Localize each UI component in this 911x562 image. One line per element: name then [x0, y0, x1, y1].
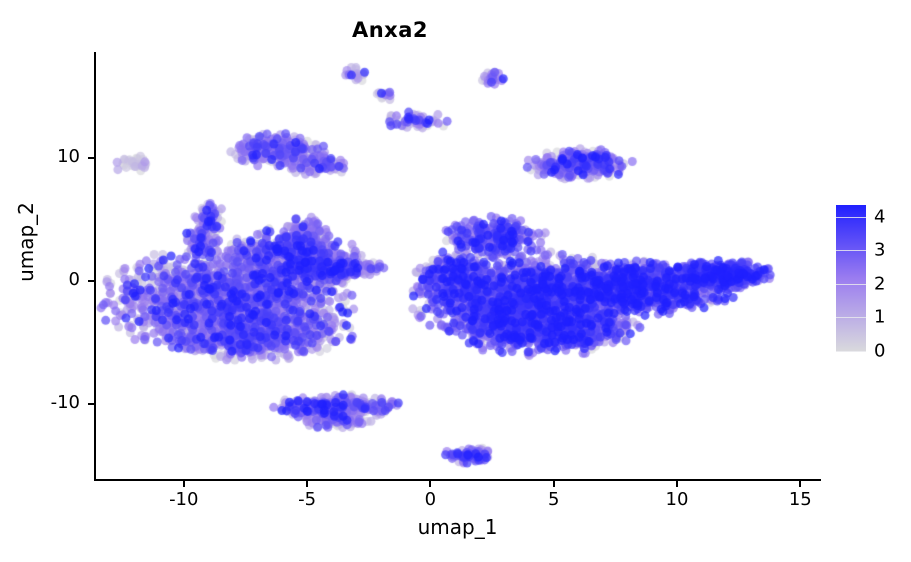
y-tick-mark	[88, 280, 94, 282]
x-tick-label: 5	[519, 489, 589, 510]
x-axis-label: umap_1	[95, 515, 820, 539]
x-tick-label: -10	[149, 489, 219, 510]
colorbar: 01234	[836, 205, 906, 351]
x-axis-spine	[94, 479, 821, 481]
scatter-plot-canvas	[95, 52, 820, 480]
x-tick-mark	[553, 481, 555, 487]
colorbar-tick-label: 1	[874, 307, 885, 328]
colorbar-tick-mark	[836, 351, 866, 352]
colorbar-tick-label: 4	[874, 206, 885, 227]
colorbar-tick-mark	[836, 317, 866, 318]
x-tick-mark	[429, 481, 431, 487]
x-tick-mark	[183, 481, 185, 487]
x-tick-label: 15	[765, 489, 835, 510]
x-tick-label: 0	[395, 489, 465, 510]
x-tick-mark	[799, 481, 801, 487]
x-tick-label: 10	[642, 489, 712, 510]
plot-axes-area	[95, 52, 820, 480]
y-tick-mark	[88, 403, 94, 405]
y-tick-mark	[88, 157, 94, 159]
y-axis-spine	[94, 52, 96, 481]
colorbar-tick-mark	[836, 284, 866, 285]
colorbar-tick-mark	[836, 217, 866, 218]
colorbar-tick-label: 2	[874, 273, 885, 294]
figure-canvas: Anxa2 -10-5051015 100-10 umap_1 umap_2 0…	[0, 0, 911, 562]
colorbar-tick-label: 3	[874, 240, 885, 261]
colorbar-tick-mark	[836, 250, 866, 251]
y-tick-label: -10	[18, 392, 80, 413]
y-axis-label: umap_2	[14, 152, 38, 332]
x-tick-mark	[306, 481, 308, 487]
page-title: Anxa2	[0, 18, 780, 42]
x-tick-label: -5	[272, 489, 342, 510]
x-tick-mark	[676, 481, 678, 487]
colorbar-tick-label: 0	[874, 341, 885, 362]
colorbar-gradient	[836, 205, 866, 351]
